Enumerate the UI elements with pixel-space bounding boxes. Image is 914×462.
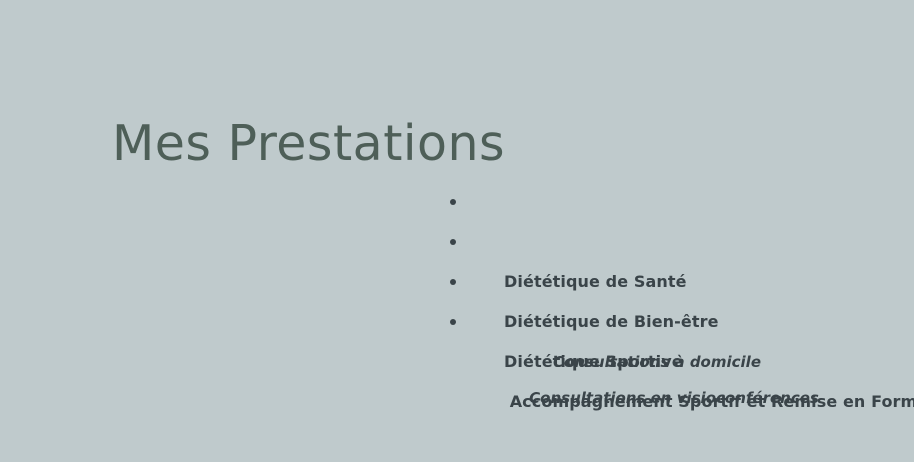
bullet-icon [450, 239, 456, 245]
list-item: Accompagnement Sportif et Remise en Form… [444, 302, 904, 342]
note-line-home-consultation: Consultations à domicile [454, 344, 894, 380]
bullet-icon [450, 199, 456, 205]
list-item: Diététique de Santé [444, 182, 904, 222]
bullet-icon [450, 319, 456, 325]
bullet-icon [450, 279, 456, 285]
consultation-notes: Consultations à domicile Consultations e… [454, 344, 894, 416]
page-title: Mes Prestations [112, 119, 505, 168]
presentation-slide: Mes Prestations Diététique de Santé Diét… [0, 0, 914, 420]
note-line-video-consultation: Consultations en visioconférences [454, 380, 894, 416]
list-item: Diététique Sportive [444, 262, 904, 302]
services-list: Diététique de Santé Diététique de Bien-ê… [444, 182, 904, 342]
list-item: Diététique de Bien-être [444, 222, 904, 262]
